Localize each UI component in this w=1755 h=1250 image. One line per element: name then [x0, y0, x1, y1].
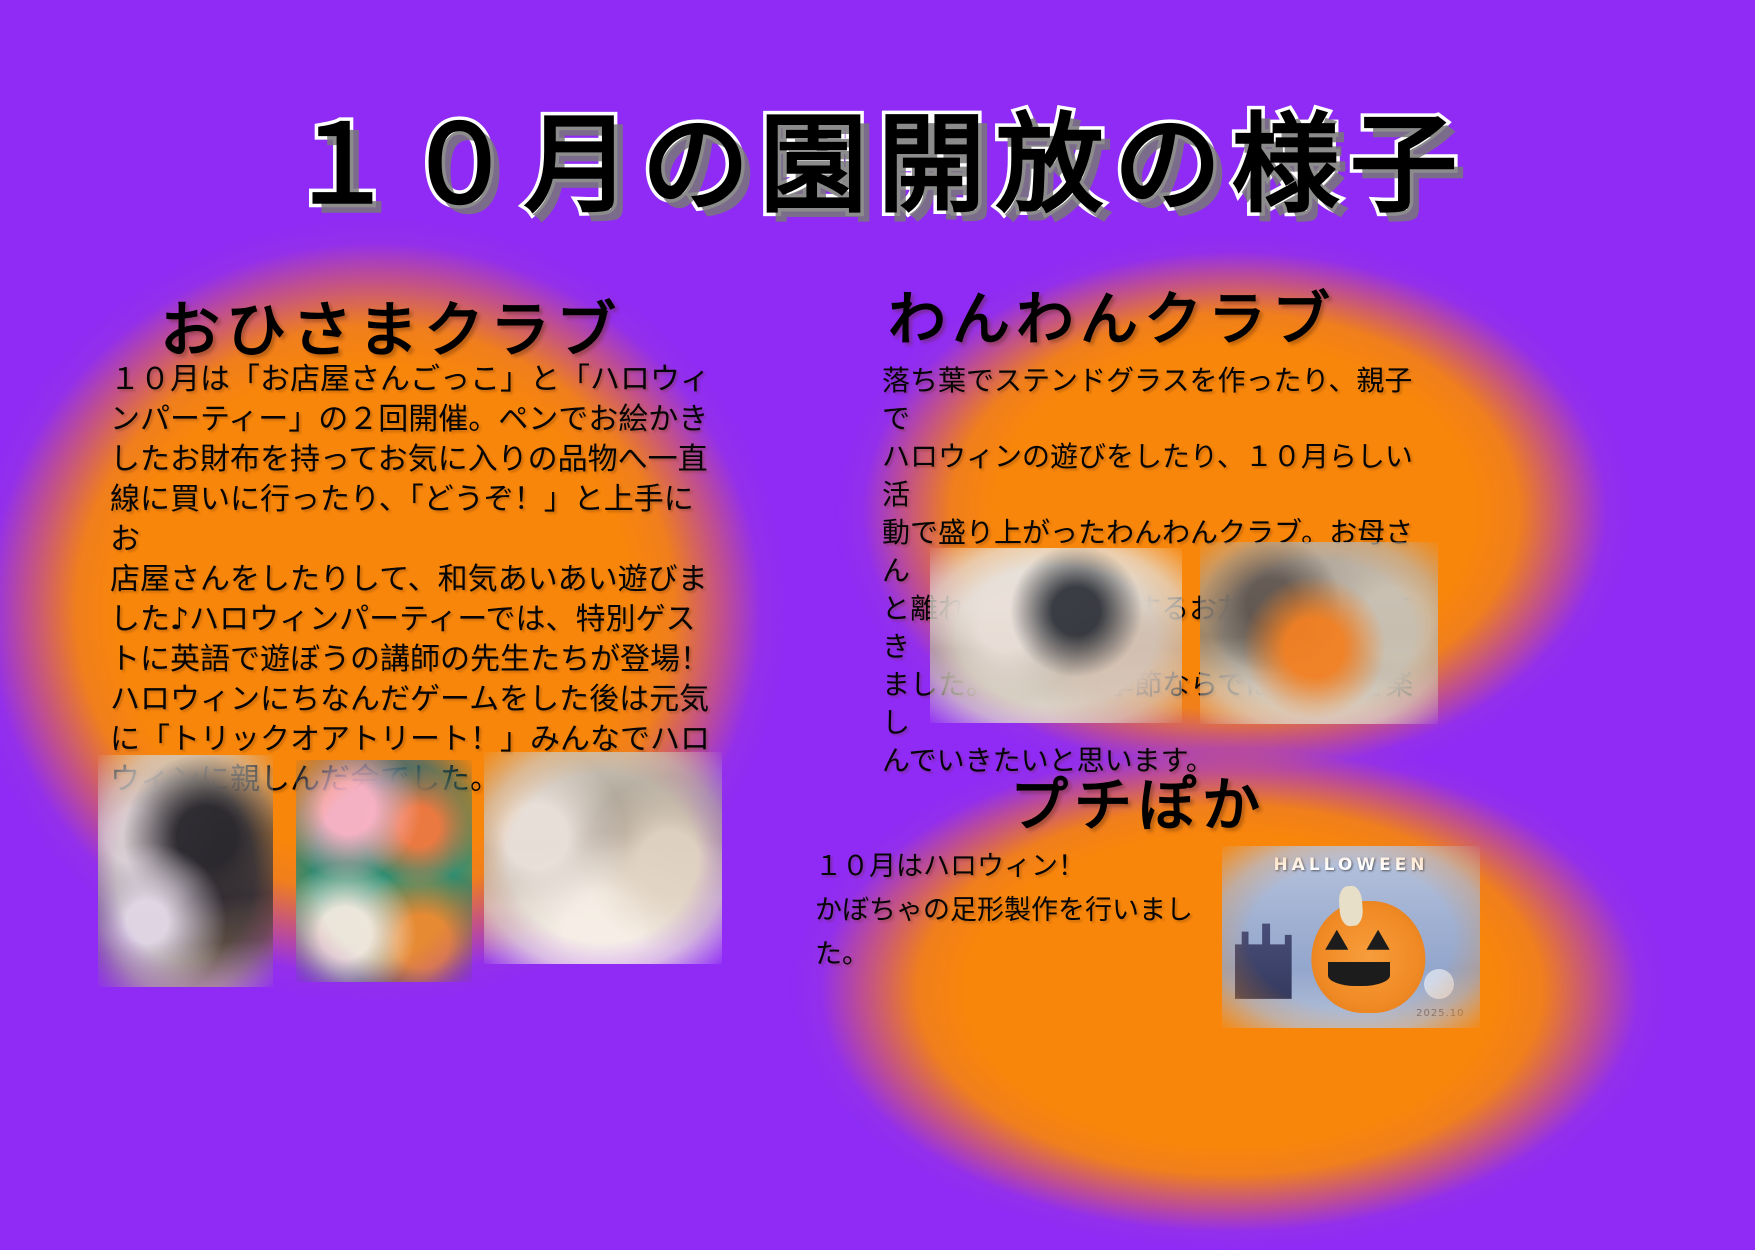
photo-puchipoka-pumpkin-artwork: HALLOWEEN 2025.10 — [1222, 846, 1480, 1028]
ghost-stamp-icon — [1424, 969, 1454, 999]
photo-image — [98, 755, 273, 987]
photo-image — [1200, 542, 1438, 724]
section-heading-puchipoka: プチぽか — [1010, 758, 1266, 842]
section-heading-wanwan: わんわんクラブ — [888, 272, 1336, 356]
photo-image — [484, 752, 722, 964]
photo-ohisama-costume-play — [98, 755, 273, 987]
photo-image — [930, 548, 1182, 723]
photo-date: 2025.10 — [1416, 1008, 1464, 1019]
pumpkin-shape — [1312, 901, 1426, 1014]
photo-image — [296, 760, 472, 982]
section-body-ohisama: １０月は「お店屋さんごっこ」と「ハロウィ ンパーティー」の２回開催。ペンでお絵か… — [110, 360, 710, 800]
photo-caption: HALLOWEEN — [1222, 855, 1480, 875]
pumpkin-mouth — [1328, 962, 1390, 986]
photo-wanwan-orange-cape — [1200, 542, 1438, 724]
haunted-castle-icon — [1235, 919, 1292, 999]
pumpkin-footprint-stem — [1338, 885, 1364, 927]
photo-wanwan-stained-glass — [930, 548, 1182, 723]
section-heading-ohisama: おひさまクラブ — [160, 282, 622, 369]
page-title: １０月の園開放の様子 — [0, 78, 1755, 234]
photo-ohisama-shop-play — [484, 752, 722, 964]
section-body-puchipoka: １０月はハロウィン！ かぼちゃの足形製作を行いました。 — [815, 845, 1245, 977]
photo-ohisama-happy-halloween-wall — [296, 760, 472, 982]
